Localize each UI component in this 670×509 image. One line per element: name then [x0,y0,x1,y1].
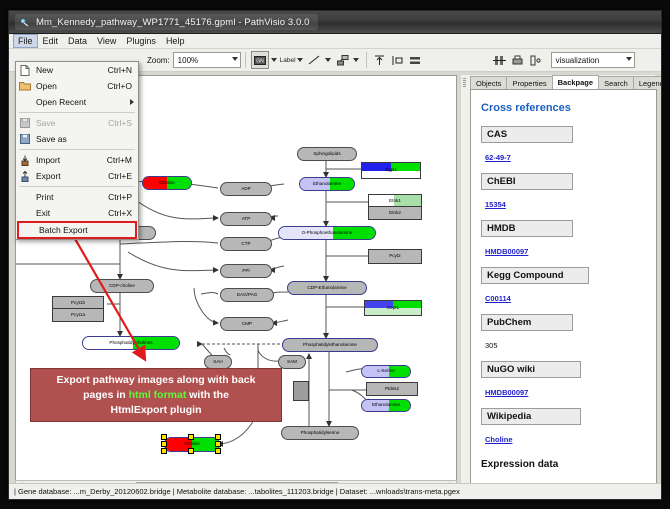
zoom-value: 100% [178,56,198,65]
menu-item-batch-export[interactable]: Batch Export [17,221,137,239]
menu-help[interactable]: Help [161,34,190,48]
callout-text: Export pathway images along with back pa… [51,373,262,418]
node-label: Cept1 [365,301,421,315]
datanode-tool-button[interactable]: GN [251,51,269,69]
node-label: DAG/PAG [237,293,258,298]
node-label: Ethanolamine [372,403,400,408]
datanode-dropdown-icon[interactable] [271,58,277,62]
cross-references-heading: Cross references [481,102,646,114]
selection-handle[interactable] [215,448,221,454]
selection-handle[interactable] [188,448,194,454]
status-bar: | Gene database: ...m_Derby_20120602.bri… [9,483,661,499]
node-label: ADP [241,187,250,192]
export-icon [18,170,32,182]
label-dropdown-icon[interactable] [297,58,303,62]
node-label: CMP [242,322,252,327]
menu-item-label: Print [36,192,108,202]
title-pill: Mm_Kennedy_pathway_WP1771_45176.gpml - P… [15,14,318,30]
chevron-down-icon [232,57,238,61]
print-button[interactable] [510,52,526,68]
node-adp[interactable]: ADP [220,182,272,196]
menu-plugins[interactable]: Plugins [121,34,161,48]
side-panel-tabs[interactable]: Objects Properties Backpage Search Legen… [461,75,655,89]
node-sgpl1[interactable]: Sgpl1 [361,162,421,179]
node-label: Pcyt1a [71,313,85,318]
shape-tool-button[interactable] [335,52,351,68]
panel-grip[interactable] [463,77,468,89]
db-header-wikipedia: Wikipedia [481,408,581,425]
node-phosphatidylethanolamine[interactable]: Phosphatidylethanolamine [282,338,378,352]
db-header-cas: CAS [481,126,573,143]
blank-icon-2 [18,191,32,203]
callout-line-2a: pages in [83,389,129,401]
selection-handle[interactable] [161,441,167,447]
backpage-content[interactable]: Cross references CAS 62-49-7 ChEBI 15354… [470,89,657,493]
menu-item-label: Save as [36,134,132,144]
selection-handle[interactable] [161,434,167,440]
sidepanel-button[interactable] [528,52,544,68]
import-icon [18,154,32,166]
node-etnk1[interactable]: Etnk1 [368,194,422,208]
node-label: CTP [241,242,250,247]
node-label: Phosphatidylcholines [109,341,152,346]
menu-item-save-as[interactable]: Save as [16,131,138,147]
pathvisio-icon [19,16,31,28]
tab-properties[interactable]: Properties [506,76,552,89]
title-bar: Mm_Kennedy_pathway_WP1771_45176.gpml - P… [9,11,661,34]
node-sphingolipids[interactable]: Sphingolipids [297,147,357,161]
node-label: Ethanolamine [313,182,341,187]
node-label: Pcyt1b [71,301,85,306]
stack-button[interactable] [492,52,508,68]
menu-item-label: Save [36,118,108,128]
menu-item-shortcut: Ctrl+O [107,81,138,91]
menu-item-shortcut: Ctrl+X [108,208,138,218]
node-label: Choline [159,181,175,186]
node-ethanolamine-2[interactable]: Ethanolamine [361,399,411,412]
menu-item-save: Save Ctrl+S [16,115,138,131]
menu-item-label: Import [36,155,107,165]
tab-legend[interactable]: Legend [633,76,662,89]
save-as-icon [18,133,32,145]
node-dag-pag[interactable]: DAG/PAG [220,288,274,302]
node-label: O-Phosphoethanolamine [302,231,353,236]
node-sah[interactable]: SAH [204,355,232,369]
menu-item-shortcut: Ctrl+P [108,192,138,202]
callout-highlight: html format [129,389,187,401]
align-left-button[interactable] [390,52,406,68]
db-header-hmdb: HMDB [481,220,573,237]
new-document-icon [18,64,32,76]
menu-bar[interactable]: File Edit Data View Plugins Help [9,34,661,49]
db-value-chebi[interactable]: 15354 [485,200,506,209]
align-top-button[interactable] [372,52,388,68]
expression-data-heading: Expression data [481,459,646,470]
line-dropdown-icon[interactable] [325,58,331,62]
menu-item-open-recent[interactable]: Open Recent [16,94,138,110]
menu-item-shortcut: Ctrl+M [107,155,138,165]
db-value-cas[interactable]: 62-49-7 [485,153,511,162]
node-cdp-choline[interactable]: CDP-choline [90,279,154,293]
node-pcyt1a[interactable]: Pcyt1a [52,308,104,322]
open-folder-icon [18,80,32,92]
db-header-chebi: ChEBI [481,173,573,190]
menu-item-label: Open [36,81,107,91]
node-phosphatidylserine[interactable]: Phosphatidylserine [281,426,359,440]
node-label: Sgpl1 [362,163,420,178]
node-label: Choline [184,442,200,447]
shape-dropdown-icon[interactable] [353,58,359,62]
blank-icon [18,96,32,108]
menu-file[interactable]: File [13,34,38,48]
db-header-nugo-wiki: NuGO wiki [481,361,581,378]
menu-item-export[interactable]: Export Ctrl+E [16,168,138,184]
visualization-value: visualization [556,56,600,65]
submenu-arrow-icon [130,99,134,105]
menu-item-open[interactable]: Open Ctrl+O [16,78,138,94]
file-menu-popup[interactable]: New Ctrl+N Open Ctrl+O Open Recent [15,61,139,240]
node-cept1[interactable]: Cept1 [364,300,422,316]
annotation-callout: Export pathway images along with back pa… [30,368,282,422]
label-tool-text[interactable]: Label [280,57,296,64]
svg-text:GN: GN [256,58,264,64]
node-label: Phosphatidylserine [301,431,340,436]
menu-separator-2 [19,149,135,150]
menu-item-new[interactable]: New Ctrl+N [16,62,138,78]
node-label: Etnk2 [389,211,401,216]
menu-item-label: New [36,65,108,75]
menu-item-shortcut: Ctrl+N [108,65,138,75]
db-value-wikipedia[interactable]: Choline [485,435,513,444]
chevron-down-icon-2 [626,57,632,61]
pathvisio-window: Mm_Kennedy_pathway_WP1771_45176.gpml - P… [8,10,662,500]
menu-item-shortcut: Ctrl+E [108,171,138,181]
callout-line-1: Export pathway images along with back [57,374,256,386]
menu-item-import[interactable]: Import Ctrl+M [16,152,138,168]
node-atp[interactable]: ATP [220,212,272,226]
node-cdp-ethanolamine[interactable]: CDP-Ethanolamine [287,281,367,295]
selection-handle[interactable] [215,434,221,440]
menu-edit[interactable]: Edit [38,34,64,48]
node-label: SAM [287,360,297,365]
menu-item-exit[interactable]: Exit Ctrl+X [16,205,138,221]
menu-data[interactable]: Data [63,34,92,48]
menu-view[interactable]: View [92,34,121,48]
node-ppi[interactable]: PPi [220,264,272,278]
tab-search[interactable]: Search [598,76,634,89]
callout-line-2c: with the [186,389,229,401]
callout-line-3: HtmlExport plugin [111,404,202,416]
menu-item-print[interactable]: Print Ctrl+P [16,189,138,205]
node-o-phosphoethanolamine[interactable]: O-Phosphoethanolamine [278,226,376,240]
menu-item-label: Batch Export [39,225,135,235]
node-label: CDP-Ethanolamine [307,286,346,291]
menu-separator [19,112,135,113]
menu-item-label: Export [36,171,108,181]
node-label: Phosphatidylethanolamine [303,343,357,348]
db-value-pubchem: 305 [485,341,498,350]
node-label: Ptdss2 [385,387,399,392]
blank-icon-4 [21,224,35,236]
zoom-combo[interactable]: 100% [173,52,241,68]
db-value-kegg-compound[interactable]: C00114 [485,294,511,303]
node-label: ATP [242,217,251,222]
node-label: CDP-choline [109,284,135,289]
node-sam[interactable]: SAM [278,355,306,369]
node-ctp[interactable]: CTP [220,237,272,251]
zoom-label: Zoom: [147,56,170,65]
node-label: Sphingolipids [313,152,340,157]
save-disk-icon [18,117,32,129]
visualization-combo[interactable]: visualization [551,52,635,68]
db-value-nugo-wiki[interactable]: HMDB00097 [485,388,528,397]
node-cmp[interactable]: CMP [220,317,274,331]
tab-backpage[interactable]: Backpage [552,75,599,89]
distribute-button[interactable] [408,52,424,68]
desktop-background: Mm_Kennedy_pathway_WP1771_45176.gpml - P… [0,0,670,509]
blank-icon-3 [18,207,32,219]
line-tool-button[interactable] [307,52,323,68]
menu-item-label: Exit [36,208,108,218]
node-pcyt2[interactable]: Pcyt2 [368,249,422,264]
selection-handle[interactable] [215,441,221,447]
side-panel: Objects Properties Backpage Search Legen… [461,75,655,491]
selection-handle[interactable] [188,434,194,440]
db-header-kegg-compound: Kegg Compound [481,267,589,284]
tab-objects[interactable]: Objects [470,76,507,89]
node-label: L-Serine [377,369,394,374]
toolbar-separator [245,52,246,68]
toolbar-separator-2 [366,52,367,68]
node-etnk2[interactable]: Etnk2 [368,206,422,220]
selection-handle[interactable] [161,448,167,454]
node-ptdss2[interactable]: Ptdss2 [366,382,418,396]
node-choline[interactable]: Choline [142,176,192,190]
node-label: Etnk1 [369,195,421,207]
node-l-serine[interactable]: L-Serine [361,365,411,378]
menu-item-label: Open Recent [36,97,138,107]
node-label: SAH [213,360,222,365]
db-value-hmdb[interactable]: HMDB00097 [485,247,528,256]
status-text: | Gene database: ...m_Derby_20120602.bri… [9,487,460,496]
window-title: Mm_Kennedy_pathway_WP1771_45176.gpml - P… [36,17,310,28]
menu-item-shortcut: Ctrl+S [108,118,138,128]
db-header-pubchem: PubChem [481,314,573,331]
node-unlabeled-box[interactable] [293,381,309,401]
node-label: PPi [242,269,249,274]
node-phosphatidylcholines[interactable]: Phosphatidylcholines [82,336,180,350]
node-label: Pcyt2 [389,254,401,259]
menu-separator-3 [19,186,135,187]
node-ethanolamine-1[interactable]: Ethanolamine [299,177,355,191]
